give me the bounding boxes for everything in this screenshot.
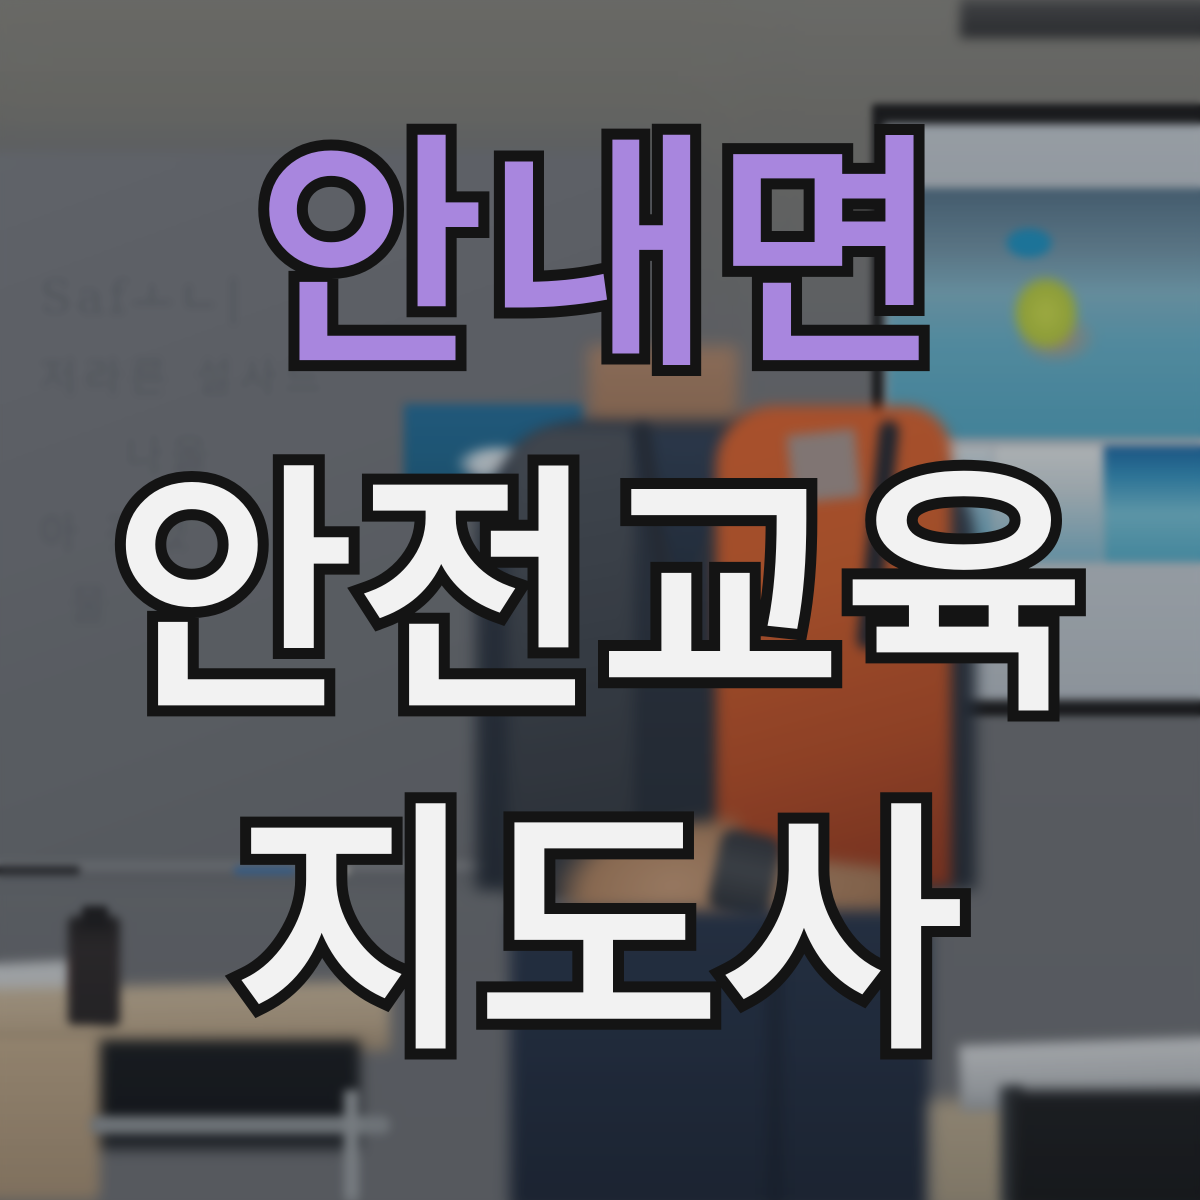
title-line-1: 안내면 [257, 135, 943, 381]
title-overlay: 안내면 안전교육 지도사 [0, 0, 1200, 1200]
title-line-3: 지도사 [235, 803, 966, 1065]
thumbnail-canvas: Safㅗㄴ| 저라른 설사드 나올 아 것있 이 물 [0, 0, 1200, 1200]
title-line-2: 안전교육 [113, 465, 1088, 727]
